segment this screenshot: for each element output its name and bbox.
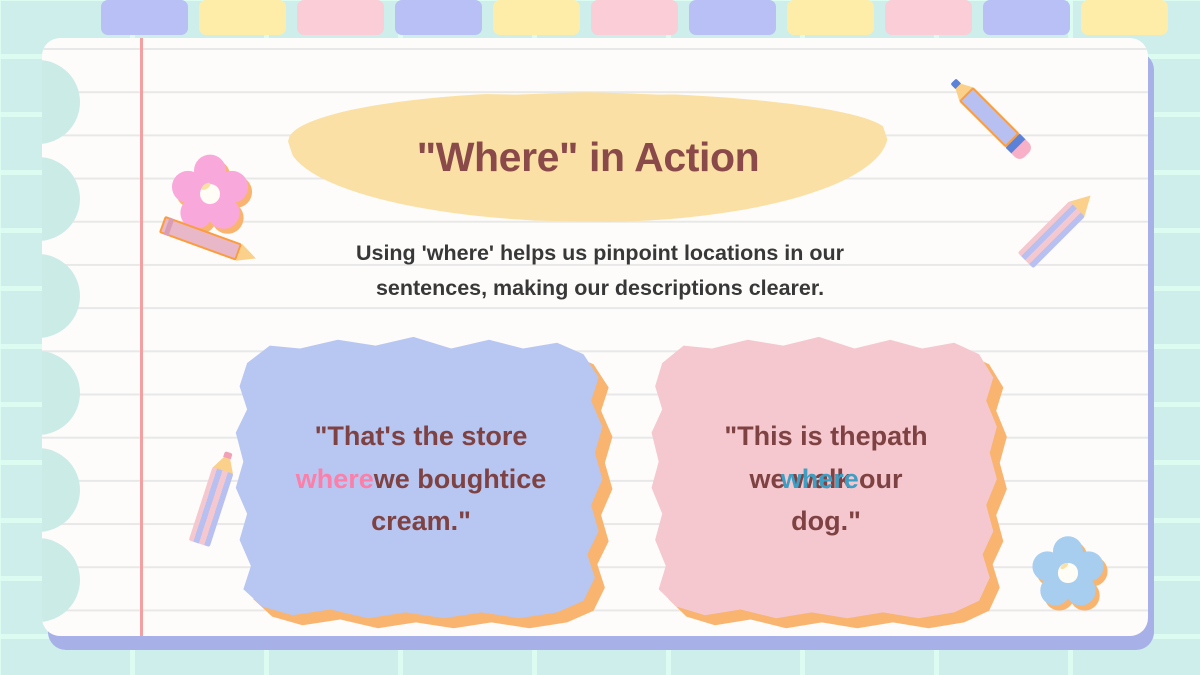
page-title: "Where" in Action xyxy=(288,92,888,222)
card-right-text-tail2: our xyxy=(852,464,903,494)
notebook-tab-9[interactable] xyxy=(885,0,972,35)
notebook-tab-6[interactable] xyxy=(591,0,678,35)
notebook-tab-1[interactable] xyxy=(101,0,188,35)
slide-title-block: "Where" in Action xyxy=(288,92,888,222)
card-right-keyword: where xyxy=(781,458,859,501)
notebook-tab-11[interactable] xyxy=(1081,0,1168,35)
notebook-tab-8[interactable] xyxy=(787,0,874,35)
notebook-tab-5[interactable] xyxy=(493,0,580,35)
card-right-text: "This is thepath we walk our where dog." xyxy=(648,334,1004,624)
card-right-text-before: "This is the xyxy=(724,421,870,451)
paper-margin-rule xyxy=(140,38,143,636)
notebook-tab-4[interactable] xyxy=(395,0,482,35)
card-left-keyword: where xyxy=(296,464,374,494)
slide-subtitle: Using 'where' helps us pinpoint location… xyxy=(300,236,900,307)
page-bottom-edge xyxy=(360,636,860,650)
notebook-tab-2[interactable] xyxy=(199,0,286,35)
example-card-left-wrapper: "That's the store wherewe boughtice crea… xyxy=(232,334,610,624)
example-card-left[interactable]: "That's the store wherewe boughtice crea… xyxy=(232,334,610,624)
card-right-text-tail: dog." xyxy=(791,500,861,543)
notebook-tab-3[interactable] xyxy=(297,0,384,35)
flower-blue-decoration xyxy=(1040,545,1096,601)
card-left-text-after: we bought xyxy=(374,464,509,494)
card-left-text-before: "That's the store xyxy=(315,421,528,451)
card-right-text-mid: path xyxy=(871,421,928,451)
notebook-tabs xyxy=(0,0,1200,60)
example-card-right[interactable]: "This is thepath we walk our where dog." xyxy=(648,334,1004,624)
notebook-tab-7[interactable] xyxy=(689,0,776,35)
notebook-tab-10[interactable] xyxy=(983,0,1070,35)
flower-pink-decoration xyxy=(180,164,240,224)
example-card-right-wrapper: "This is thepath we walk our where dog." xyxy=(648,334,1004,624)
card-left-text: "That's the store wherewe boughtice crea… xyxy=(232,334,610,624)
